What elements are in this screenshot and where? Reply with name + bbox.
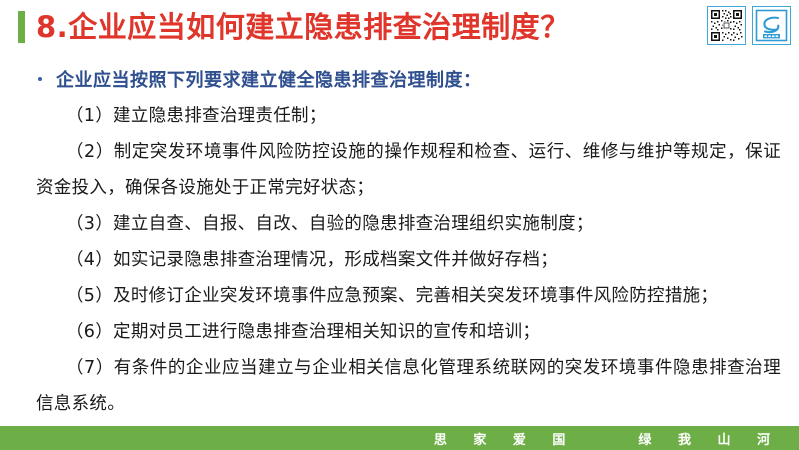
- list-item: （4）如实记录隐患排查治理情况，形成档案文件并做好存档；: [36, 242, 781, 278]
- slide-body: 企业应当按照下列要求建立健全隐患排查治理制度： （1）建立隐患排查治理责任制； …: [0, 58, 799, 428]
- lead-bullet-text: 企业应当按照下列要求建立健全隐患排查治理制度：: [56, 66, 482, 92]
- lead-bullet-line: 企业应当按照下列要求建立健全隐患排查治理制度：: [38, 66, 482, 92]
- header-badges: [707, 6, 791, 45]
- title-accent-bar: [18, 11, 25, 43]
- list-item: （6）定期对员工进行隐患排查治理相关知识的宣传和培训；: [36, 314, 781, 350]
- bullet-dot-icon: [38, 77, 42, 81]
- slide-footer: 思 家 爱 国 绿 我 山 河: [0, 426, 799, 450]
- company-logo-icon[interactable]: [752, 6, 791, 45]
- list-item: （5）及时修订企业突发环境事件应急预案、完善相关突发环境事件风险防控措施；: [36, 278, 781, 314]
- page-title: 8.企业应当如何建立隐患排查治理制度？: [36, 6, 570, 48]
- footer-slogan-left: 思 家 爱 国: [434, 429, 577, 448]
- list-item: （1）建立隐患排查治理责任制；: [36, 98, 781, 134]
- list-item: （3）建立自查、自报、自改、自验的隐患排查治理组织实施制度；: [36, 206, 781, 242]
- slide-header: 8.企业应当如何建立隐患排查治理制度？: [0, 0, 799, 54]
- slide-root: 8.企业应当如何建立隐患排查治理制度？: [0, 0, 799, 450]
- numbered-item-list: （1）建立隐患排查治理责任制； （2）制定突发环境事件风险防控设施的操作规程和检…: [36, 98, 781, 422]
- list-item: （7）有条件的企业应当建立与企业相关信息化管理系统联网的突发环境事件隐患排查治理…: [36, 350, 781, 422]
- footer-slogan-right: 绿 我 山 河: [638, 429, 781, 448]
- qr-code-icon[interactable]: [707, 6, 746, 45]
- list-item: （2）制定突发环境事件风险防控设施的操作规程和检查、运行、维修与维护等规定，保证…: [36, 134, 781, 206]
